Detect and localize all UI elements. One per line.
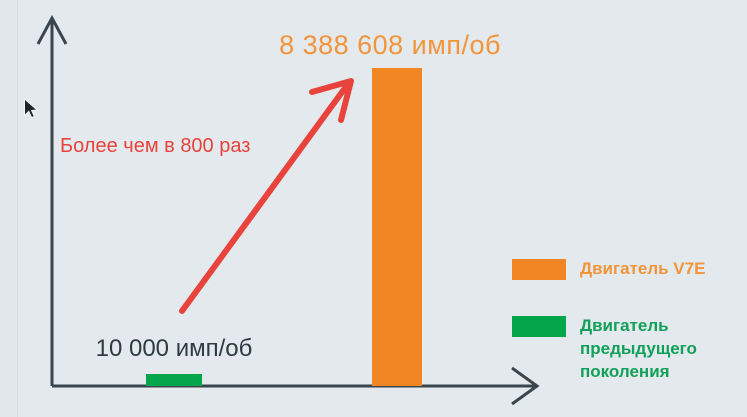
legend-item-engine-v7e[interactable]: Двигатель V7E xyxy=(512,257,705,280)
chart-title: 8 388 608 имп/об xyxy=(240,28,540,62)
arrow-up-right-icon xyxy=(182,81,351,311)
legend-label-line-1: Двигатель xyxy=(580,316,669,335)
legend-label-engine-previous-generation: Двигатель предыдущего поколения xyxy=(580,314,747,383)
legend-label-line-3: поколения xyxy=(580,362,670,381)
legend-item-engine-previous-generation[interactable]: Двигатель предыдущего поколения xyxy=(512,314,747,383)
legend-swatch-orange xyxy=(512,259,566,280)
chart-canvas: 8 388 608 имп/об 10 000 имп/об Более чем… xyxy=(0,0,747,417)
green-bar-value-label: 10 000 имп/об xyxy=(64,334,284,364)
legend-label-engine-v7e: Двигатель V7E xyxy=(580,257,705,280)
mouse-pointer-icon xyxy=(23,98,41,122)
growth-annotation-label: Более чем в 800 раз xyxy=(60,133,250,159)
legend-label-line-2: предыдущего xyxy=(580,339,697,358)
legend-swatch-green xyxy=(512,316,566,337)
